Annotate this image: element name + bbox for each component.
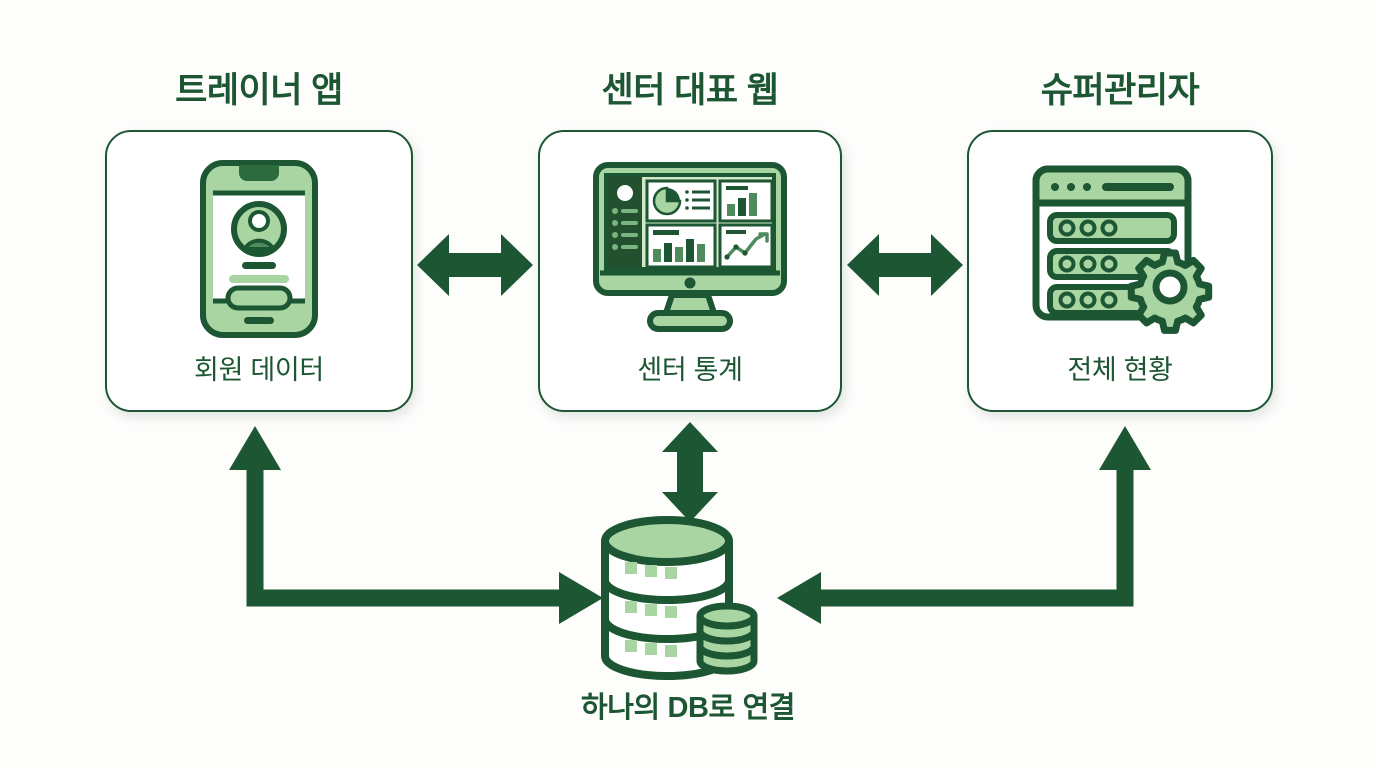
column-title-trainer-app: 트레이너 앱	[105, 73, 413, 108]
elbow-arrow-left-icon	[215, 420, 615, 630]
double-arrow-vertical-icon	[648, 420, 732, 524]
card-caption-center-web: 센터 통계	[540, 357, 840, 384]
column-title-super-admin: 슈퍼관리자	[967, 73, 1273, 108]
database-caption: 하나의 DB로 연결	[488, 694, 888, 723]
double-arrow-horizontal-icon	[845, 222, 965, 308]
server-rack-gear-icon	[969, 154, 1271, 344]
card-super-admin[interactable]: 전체 현황	[967, 130, 1273, 412]
double-arrow-horizontal-icon	[415, 222, 535, 308]
card-caption-trainer-app: 회원 데이터	[107, 357, 411, 384]
card-trainer-app[interactable]: 회원 데이터	[105, 130, 413, 412]
desktop-dashboard-icon	[540, 154, 840, 344]
card-caption-super-admin: 전체 현황	[969, 357, 1271, 384]
elbow-arrow-right-icon	[765, 420, 1165, 630]
card-center-web[interactable]: 센터 통계	[538, 130, 842, 412]
database-cylinder-icon	[595, 516, 785, 681]
diagram-canvas: 트레이너 앱 센터 대표 웹 슈퍼관리자	[0, 0, 1376, 768]
column-title-center-web: 센터 대표 웹	[538, 73, 842, 108]
smartphone-profile-icon	[107, 154, 411, 344]
